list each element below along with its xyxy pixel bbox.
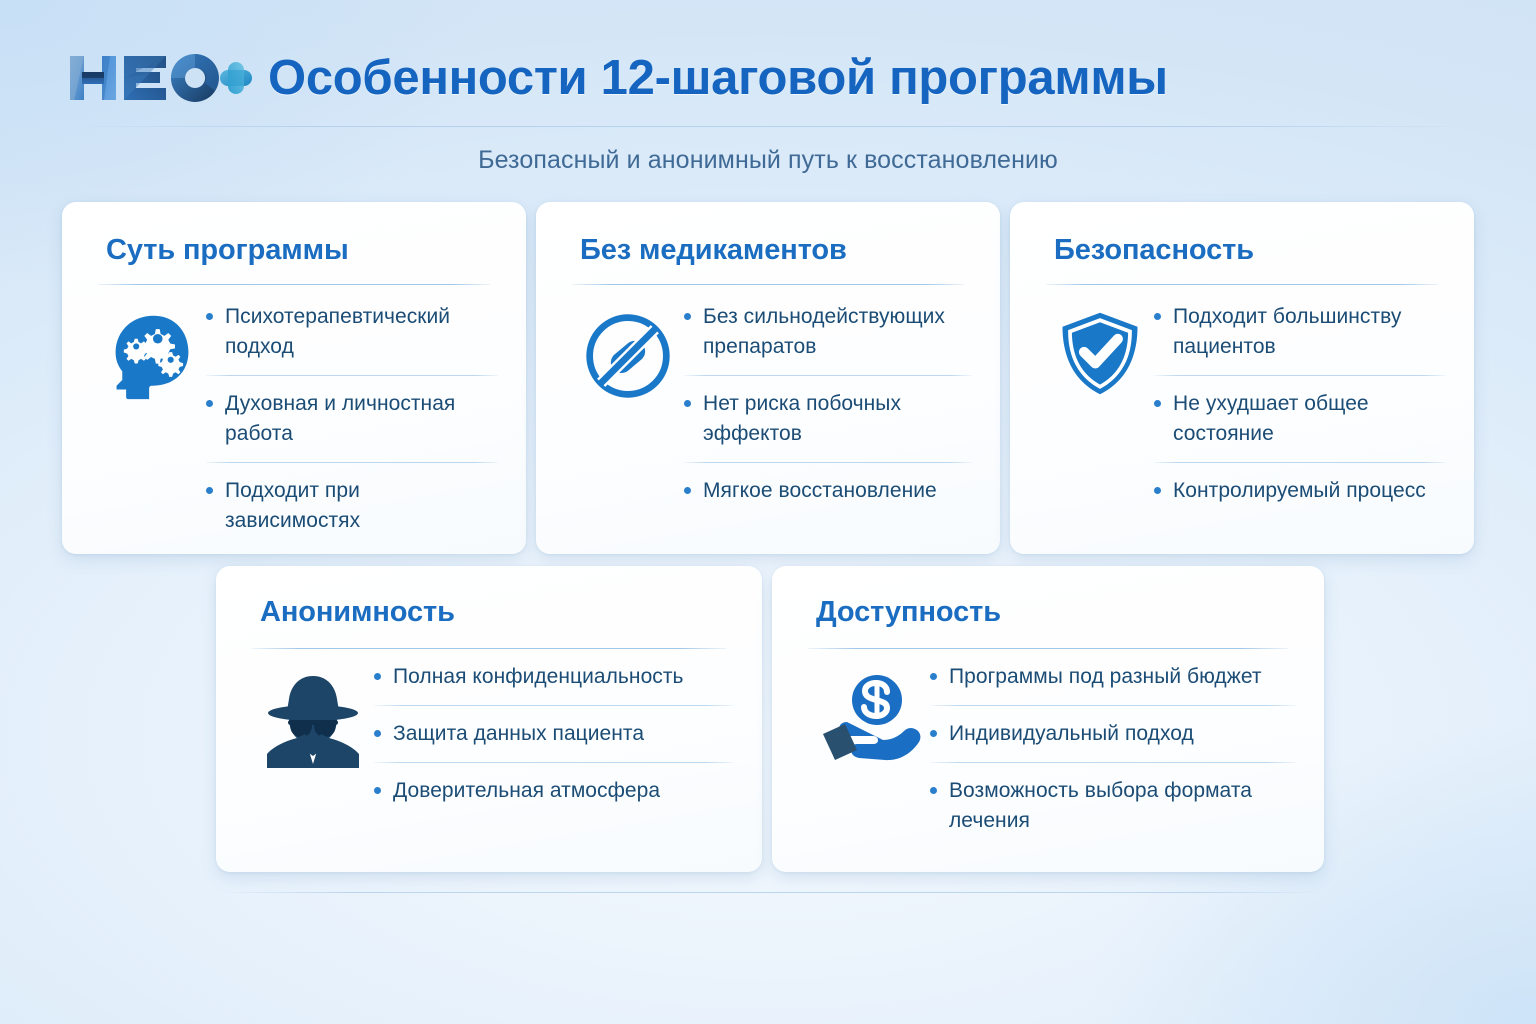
bullet-divider xyxy=(374,705,734,706)
bullet-text: Не ухудшает общее состояние xyxy=(1173,389,1446,449)
bullet-dot-icon xyxy=(206,487,213,494)
list-item: Возможность выбора формата лечения xyxy=(930,776,1296,836)
card-title: Безопасность xyxy=(1054,234,1254,267)
card-title: Анонимность xyxy=(260,596,455,629)
bullet-divider xyxy=(1154,375,1446,376)
bullet-divider xyxy=(206,375,498,376)
bullet-text: Контролируемый процесс xyxy=(1173,476,1426,506)
list-item: Защита данных пациента xyxy=(374,719,734,749)
list-item: Мягкое восстановление xyxy=(684,476,972,506)
bullet-dot-icon xyxy=(374,787,381,794)
footer-divider xyxy=(216,892,1326,893)
bullet-divider xyxy=(684,375,972,376)
card-title-divider xyxy=(1046,284,1438,285)
card-body: Подходит большинству пациентов Не ухудша… xyxy=(1046,302,1446,506)
bullet-text: Индивидуальный подход xyxy=(949,719,1194,749)
list-item: Без сильнодействующих препаратов xyxy=(684,302,972,362)
bullet-dot-icon xyxy=(1154,400,1161,407)
bullet-text: Без сильнодействующих препаратов xyxy=(703,302,972,362)
bullet-divider xyxy=(206,462,498,463)
bullet-divider xyxy=(1154,462,1446,463)
list-item: Контролируемый процесс xyxy=(1154,476,1446,506)
bullet-dot-icon xyxy=(206,313,213,320)
feature-card-safety: Безопасность Подходит большинству пациен… xyxy=(1010,202,1474,554)
list-item: Подходит большинству пациентов xyxy=(1154,302,1446,362)
shield-check-icon xyxy=(1046,302,1154,398)
feature-card-program-essence: Суть программы xyxy=(62,202,526,554)
hand-holding-coin-icon xyxy=(808,662,930,768)
card-title: Доступность xyxy=(816,596,1001,629)
incognito-spy-icon xyxy=(252,662,374,772)
bullet-dot-icon xyxy=(930,730,937,737)
feature-card-anonymity: Анонимность xyxy=(216,566,762,872)
list-item: Духовная и личностная работа xyxy=(206,389,498,449)
header: Особенности 12-шаговой программы xyxy=(0,0,1536,122)
bullet-text: Полная конфиденциальность xyxy=(393,662,684,692)
bullet-dot-icon xyxy=(930,787,937,794)
bullet-dot-icon xyxy=(930,673,937,680)
card-bullet-list: Полная конфиденциальность Защита данных … xyxy=(374,662,734,806)
card-bullet-list: Психотерапевтический подход Духовная и л… xyxy=(206,302,498,536)
bullet-text: Возможность выбора формата лечения xyxy=(949,776,1296,836)
bullet-text: Духовная и личностная работа xyxy=(225,389,498,449)
bullet-text: Подходит большинству пациентов xyxy=(1173,302,1446,362)
bullet-text: Программы под разный бюджет xyxy=(949,662,1262,692)
bullet-dot-icon xyxy=(1154,487,1161,494)
card-bullet-list: Подходит большинству пациентов Не ухудша… xyxy=(1154,302,1446,506)
card-body: Психотерапевтический подход Духовная и л… xyxy=(98,302,498,536)
bullet-divider xyxy=(684,462,972,463)
feature-card-no-medication: Без медикаментов Без сильно xyxy=(536,202,1000,554)
list-item: Полная конфиденциальность xyxy=(374,662,734,692)
bullet-text: Психотерапевтический подход xyxy=(225,302,498,362)
bullet-dot-icon xyxy=(1154,313,1161,320)
bullet-text: Нет риска побочных эффектов xyxy=(703,389,972,449)
list-item: Нет риска побочных эффектов xyxy=(684,389,972,449)
list-item: Программы под разный бюджет xyxy=(930,662,1296,692)
card-bullet-list: Без сильнодействующих препаратов Нет рис… xyxy=(684,302,972,506)
list-item: Индивидуальный подход xyxy=(930,719,1296,749)
neo-plus-logo-icon xyxy=(64,46,254,110)
bullet-divider xyxy=(930,762,1296,763)
card-title-divider xyxy=(572,284,964,285)
list-item: Не ухудшает общее состояние xyxy=(1154,389,1446,449)
no-pills-icon xyxy=(572,302,684,402)
bullet-text: Защита данных пациента xyxy=(393,719,644,749)
card-title-divider xyxy=(98,284,490,285)
bullet-text: Мягкое восстановление xyxy=(703,476,937,506)
bullet-divider xyxy=(374,762,734,763)
card-body: Программы под разный бюджет Индивидуальн… xyxy=(808,662,1296,836)
head-with-gears-icon xyxy=(98,302,206,402)
header-divider xyxy=(60,126,1476,127)
feature-card-affordability: Доступность xyxy=(772,566,1324,872)
bullet-dot-icon xyxy=(684,313,691,320)
bullet-divider xyxy=(930,705,1296,706)
bullet-text: Подходит при зависимостях xyxy=(225,476,498,536)
card-body: Без сильнодействующих препаратов Нет рис… xyxy=(572,302,972,506)
bullet-dot-icon xyxy=(684,400,691,407)
card-title-divider xyxy=(252,648,726,649)
page-subtitle: Безопасный и анонимный путь к восстановл… xyxy=(0,146,1536,175)
card-title-divider xyxy=(808,648,1288,649)
bullet-dot-icon xyxy=(684,487,691,494)
bullet-dot-icon xyxy=(374,730,381,737)
card-title: Без медикаментов xyxy=(580,234,847,267)
card-title: Суть программы xyxy=(106,234,349,267)
infographic-page: Особенности 12-шаговой программы Безопас… xyxy=(0,0,1536,1024)
bullet-text: Доверительная атмосфера xyxy=(393,776,660,806)
card-body: Полная конфиденциальность Защита данных … xyxy=(252,662,734,806)
bullet-dot-icon xyxy=(206,400,213,407)
bullet-dot-icon xyxy=(374,673,381,680)
list-item: Подходит при зависимостях xyxy=(206,476,498,536)
list-item: Психотерапевтический подход xyxy=(206,302,498,362)
list-item: Доверительная атмосфера xyxy=(374,776,734,806)
card-bullet-list: Программы под разный бюджет Индивидуальн… xyxy=(930,662,1296,836)
page-title: Особенности 12-шаговой программы xyxy=(268,48,1168,108)
